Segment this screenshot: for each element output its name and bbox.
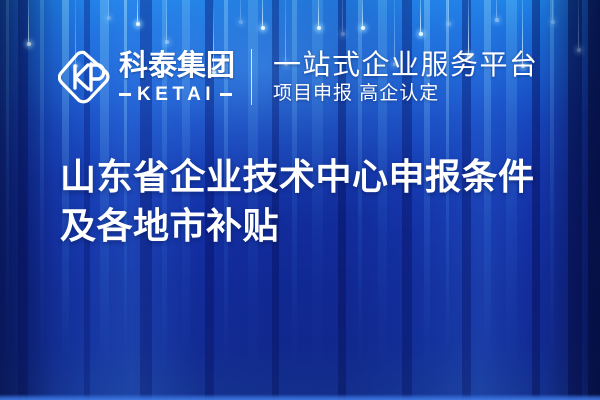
promo-banner: 科泰集团 KETAI 一站式企业服务平台 项目申报 高企认定 山东省企业技术中心… (0, 0, 600, 400)
bottom-accent-band (0, 394, 600, 400)
brand-name-en: KETAI (137, 85, 215, 105)
page-title: 山东省企业技术中心申报条件及各地市补贴 (60, 152, 560, 250)
brand-logo[interactable]: 科泰集团 KETAI (58, 50, 235, 105)
header-divider (251, 49, 252, 105)
ketai-diamond-kp-logo-icon (58, 50, 110, 104)
tagline-block: 一站式企业服务平台 项目申报 高企认定 (273, 49, 539, 106)
logo-dash-left (119, 93, 131, 96)
brand-header: 科泰集团 KETAI 一站式企业服务平台 项目申报 高企认定 (0, 42, 600, 112)
tagline-sub: 项目申报 高企认定 (273, 82, 539, 106)
brand-name-cn: 科泰集团 (119, 50, 235, 83)
logo-dash-right (220, 93, 232, 96)
tagline-main: 一站式企业服务平台 (273, 49, 539, 81)
